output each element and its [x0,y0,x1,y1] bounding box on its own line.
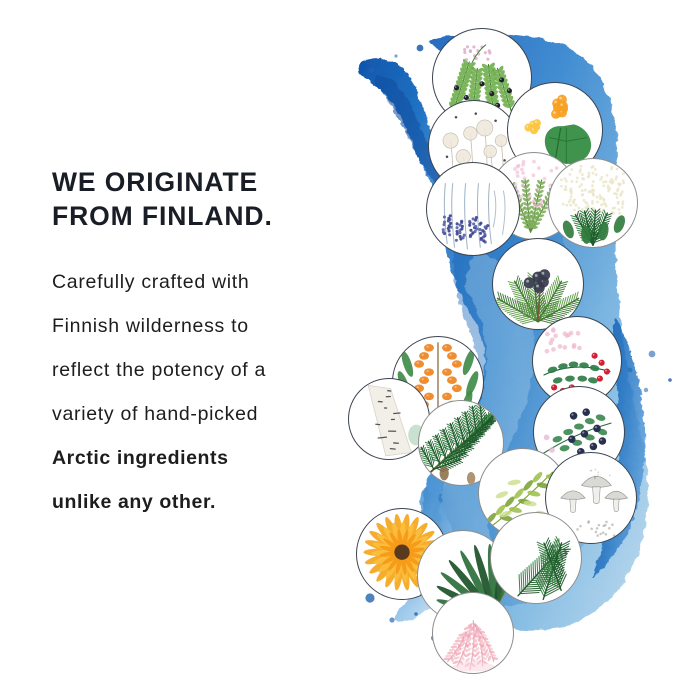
pink-algae-medallion [432,592,514,674]
spruce-sprig-medallion [490,512,582,604]
lavender-grass-medallion [426,162,520,256]
body-line: Finnish wilderness to [52,304,352,348]
text-panel: WE ORIGINATE FROM FINLAND. Carefully cra… [52,166,352,524]
page-title: WE ORIGINATE FROM FINLAND. [52,166,352,234]
body-line: Carefully crafted with [52,260,352,304]
poster-canvas: WE ORIGINATE FROM FINLAND. Carefully cra… [0,0,679,679]
body-line: variety of hand-picked [52,392,352,436]
body-copy: Carefully crafted withFinnish wilderness… [52,260,352,524]
body-line: unlike any other. [52,480,352,524]
meadowsweet-medallion [548,158,638,248]
body-line: reflect the potency of a [52,348,352,392]
body-line: Arctic ingredients [52,436,352,480]
